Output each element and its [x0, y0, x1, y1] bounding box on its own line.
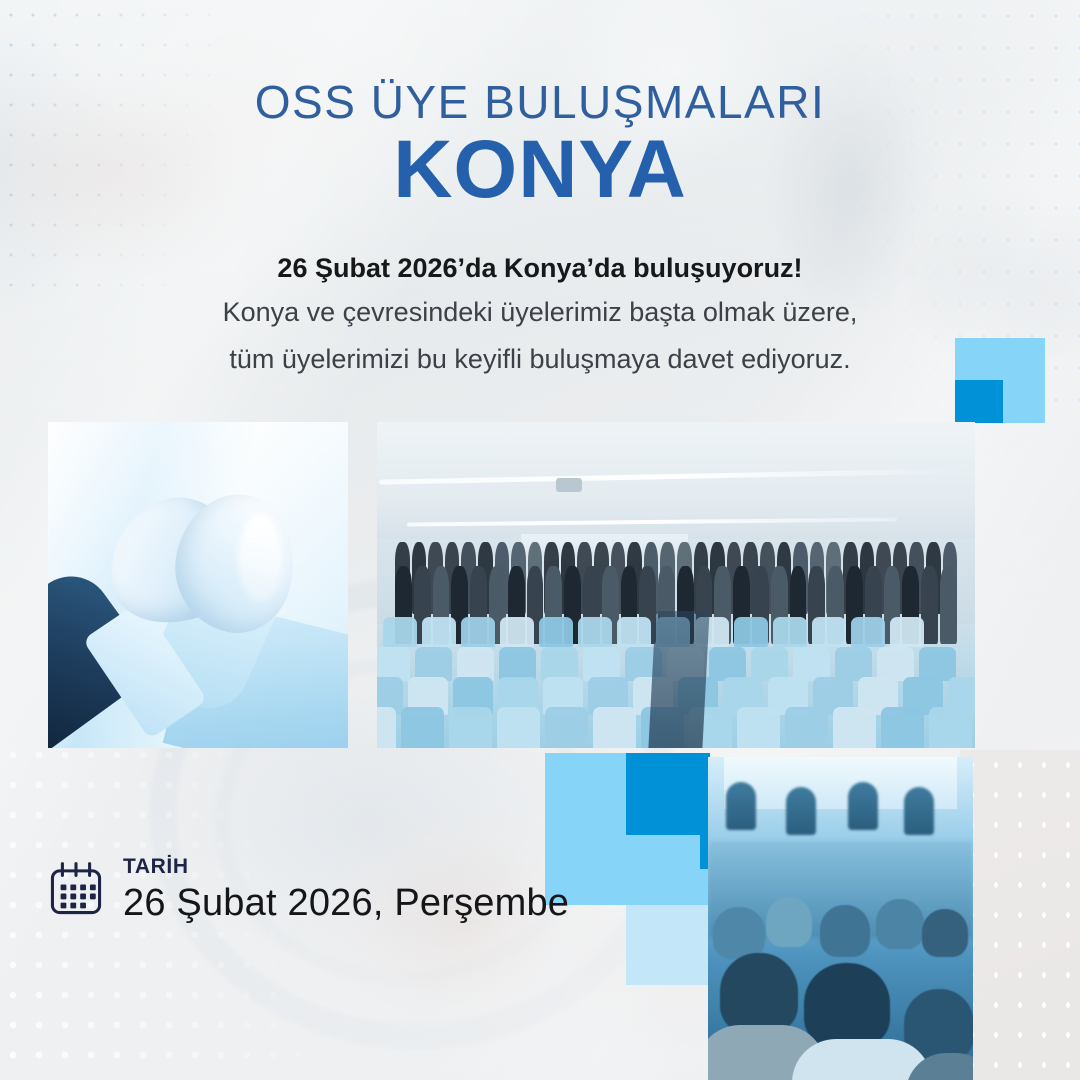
date-value: 26 Şubat 2026, Perşembe — [123, 884, 569, 922]
group-photo-aisle — [648, 611, 709, 748]
poster-canvas: OSS ÜYE BULUŞMALARI KONYA 26 Şubat 2026’… — [0, 0, 1080, 1080]
subtitle-line-1: Konya ve çevresindeki üyelerimiz başta o… — [0, 292, 1080, 333]
decor-square-right-blue — [955, 380, 1003, 423]
group-photo-seat — [877, 647, 914, 681]
group-photo-seat — [422, 617, 456, 647]
subtitle-lead: 26 Şubat 2026’da Konya’da buluşuyoruz! — [0, 250, 1080, 286]
group-photo-ceiling — [377, 422, 975, 552]
group-photo-seat — [583, 647, 620, 681]
audience-photo-attendee — [713, 907, 765, 959]
subtitle-line-2: tüm üyelerimizi bu keyifli buluşmaya dav… — [0, 339, 1080, 380]
group-photo-seat — [541, 647, 578, 681]
group-photo-seat — [851, 617, 885, 647]
group-photo-seat — [773, 617, 807, 647]
group-photo-seat — [751, 647, 788, 681]
decor-square-mid-pale — [626, 905, 710, 985]
group-photo-seat — [737, 707, 780, 748]
decor-square-mid-blue — [626, 753, 710, 835]
group-photo-seat — [401, 707, 444, 748]
date-block: TARİH 26 Şubat 2026, Perşembe — [47, 856, 569, 922]
dot-pattern-bottom-right — [960, 750, 1080, 1080]
group-photo-seat — [812, 617, 846, 647]
handshake-knuckle-highlight — [238, 514, 282, 602]
group-photo-seat — [377, 707, 396, 748]
audience-photo-panelist — [726, 782, 756, 830]
group-photo-seat — [383, 617, 417, 647]
audience-photo-panelist — [848, 782, 878, 830]
group-photo-seat — [377, 647, 410, 681]
date-text-group: TARİH 26 Şubat 2026, Perşembe — [123, 856, 569, 922]
group-photo-seat — [919, 647, 956, 681]
audience-photo-attendee — [922, 909, 968, 957]
group-photo-seat — [457, 647, 494, 681]
group-photo-seat — [929, 707, 972, 748]
handshake-photo — [48, 422, 348, 748]
subtitle-group: 26 Şubat 2026’da Konya’da buluşuyoruz! K… — [0, 250, 1080, 381]
headline-kicker: OSS ÜYE BULUŞMALARI — [0, 78, 1080, 126]
headline-group: OSS ÜYE BULUŞMALARI KONYA — [0, 78, 1080, 212]
group-photo-seat — [545, 707, 588, 748]
group-photo-seat — [833, 707, 876, 748]
group-photo-seat — [461, 617, 495, 647]
group-photo-seat — [539, 617, 573, 647]
date-label: TARİH — [123, 856, 569, 877]
group-photo-seat — [415, 647, 452, 681]
group-photo-seat — [500, 617, 534, 647]
group-photo-projector — [556, 478, 582, 492]
group-photo-seat — [593, 707, 636, 748]
group-photo-seat — [890, 617, 924, 647]
audience-photo-stage — [708, 776, 973, 847]
group-photo-seat — [709, 647, 746, 681]
group-photo-seat — [835, 647, 872, 681]
audience-photo — [708, 757, 973, 1080]
group-photo-seat — [617, 617, 651, 647]
audience-photo-attendee — [766, 897, 812, 947]
group-photo — [377, 422, 975, 748]
headline-city: KONYA — [0, 128, 1080, 212]
audience-photo-attendee — [720, 953, 798, 1033]
group-photo-seat — [499, 647, 536, 681]
group-photo-seat — [793, 647, 830, 681]
group-photo-seat — [881, 707, 924, 748]
group-photo-seat — [449, 707, 492, 748]
group-photo-seat — [734, 617, 768, 647]
decor-audience-edge-accent — [700, 757, 708, 869]
group-photo-seat — [497, 707, 540, 748]
group-photo-seat — [785, 707, 828, 748]
audience-photo-panelist — [904, 787, 934, 835]
audience-photo-attendee — [820, 905, 870, 957]
calendar-icon — [47, 860, 105, 918]
group-photo-seat — [578, 617, 612, 647]
audience-photo-panelist — [786, 787, 816, 835]
audience-photo-attendee — [804, 963, 890, 1047]
audience-photo-attendee — [876, 899, 924, 949]
